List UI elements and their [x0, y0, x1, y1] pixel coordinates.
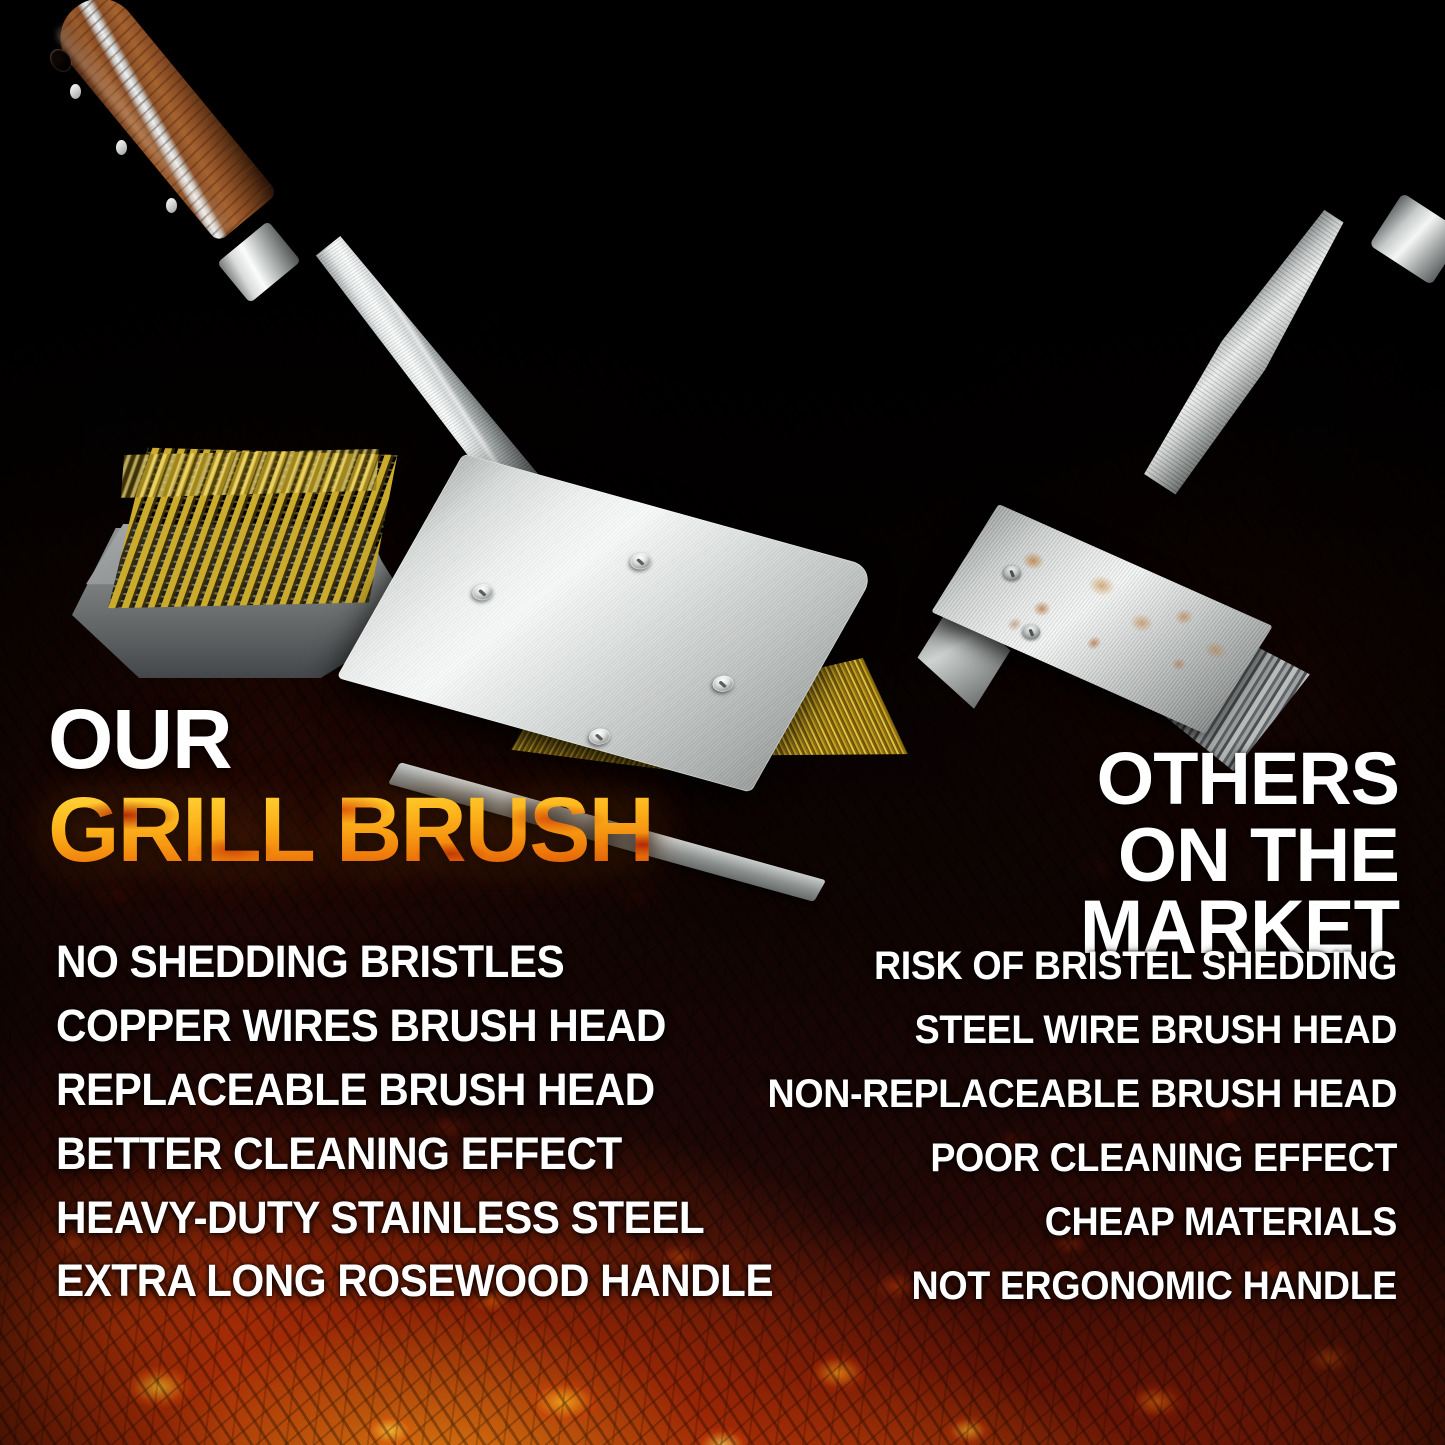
handle-rivet: [166, 198, 177, 213]
feature-item: BETTER CLEANING EFFECT: [56, 1122, 808, 1186]
feature-item: COPPER WIRES BRUSH HEAD: [56, 994, 808, 1058]
our-heading-line-2: GRILL BRUSH: [48, 784, 688, 876]
comparison-infographic: OUR GRILL BRUSH OTHERS ON THE MARKET NO …: [0, 0, 1445, 1445]
competitor-side-heading: OTHERS ON THE MARKET: [779, 744, 1399, 965]
feature-item: POOR CLEANING EFFECT: [739, 1126, 1397, 1190]
feature-item: REPLACEABLE BRUSH HEAD: [56, 1058, 808, 1122]
our-heading-line-1: OUR: [48, 700, 688, 780]
our-side-heading: OUR GRILL BRUSH: [48, 700, 688, 876]
competitor-heading-line-1: OTHERS: [779, 744, 1399, 814]
competitor-steel-handle: [1212, 238, 1445, 508]
feature-item: EXTRA LONG ROSEWOOD HANDLE: [56, 1249, 808, 1313]
feature-item: CHEAP MATERIALS: [739, 1190, 1397, 1254]
feature-item: RISK OF BRISTEL SHEDDING: [739, 934, 1397, 998]
handle-rivet: [70, 84, 81, 99]
competitor-feature-list: RISK OF BRISTEL SHEDDING STEEL WIRE BRUS…: [697, 934, 1397, 1318]
handle-wood-body: [45, 0, 278, 243]
feature-item: NON-REPLACEABLE BRUSH HEAD: [739, 1062, 1397, 1126]
feature-item: NO SHEDDING BRISTLES: [56, 930, 808, 994]
feature-item: NOT ERGONOMIC HANDLE: [739, 1254, 1397, 1318]
handle-rivet: [116, 140, 127, 155]
feature-item: STEEL WIRE BRUSH HEAD: [739, 998, 1397, 1062]
feature-item: HEAVY-DUTY STAINLESS STEEL: [56, 1186, 808, 1250]
